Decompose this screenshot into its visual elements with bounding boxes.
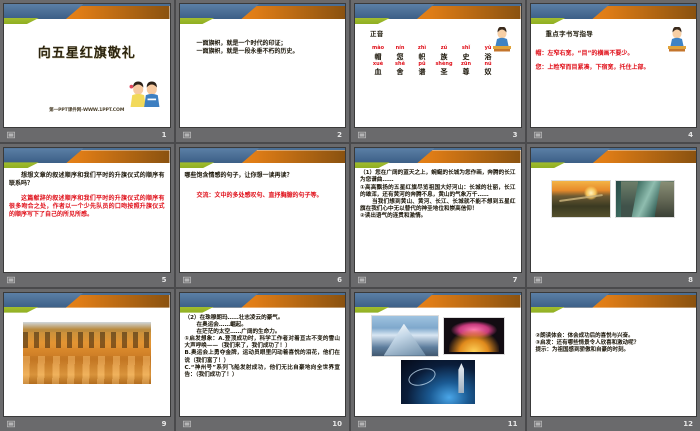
- banner-green-band: [355, 307, 390, 313]
- hanzi-text: 尊: [456, 68, 476, 76]
- slide-cell-12[interactable]: ②朗读体会：体会成功后的喜悦与兴奋。 ③启发：还有哪些情景令人欣喜和激动呢？ 提…: [527, 289, 700, 431]
- slide-thumbnail-icon: [358, 276, 366, 284]
- slide-number: 12: [683, 420, 693, 428]
- body-line: ③启发：还有哪些情景令人欣喜和激动呢？: [536, 340, 692, 347]
- slide-number: 4: [688, 131, 693, 139]
- body-line: （2）在珠穆朗玛……壮志凌云的豪气。: [185, 315, 341, 322]
- guide-item: 您：上睑窄而目紧凑，下宿宽，托住上部。: [536, 64, 692, 72]
- slide-thumbnail-icon: [534, 276, 542, 284]
- banner-green-band: [180, 162, 215, 168]
- hanzi-text: 血: [368, 68, 388, 76]
- slide-footer: 1: [3, 128, 171, 142]
- slide-banner: [531, 148, 697, 169]
- hanzi-cell: 浴: [478, 53, 498, 61]
- yellow-river-waterfall-photo: [23, 322, 151, 384]
- pinyin-text: shě: [390, 62, 410, 68]
- olympic-fireworks-photo: [443, 317, 505, 355]
- slide-body: （2）在珠穆朗玛……壮志凌云的豪气。 在奥运会……崛起。 在茫茫的太空……广阔的…: [180, 314, 346, 416]
- pinyin-text: zhì: [412, 46, 432, 52]
- slide-3[interactable]: 正音 mào nín zhì zú shǐ yù: [354, 3, 522, 128]
- slide-number: 10: [332, 420, 342, 428]
- slide-body: 重点字书写指导 帽：左窄右宽，“目”的横画不要少。 您：上睑窄而目紧凑，下宿宽，…: [531, 25, 697, 127]
- slide-number: 9: [162, 420, 167, 428]
- slide-body: 向五星红旗敬礼 第一PPT课件网-WWW.1PPT.COM: [4, 25, 170, 127]
- slide-thumbnail-icon: [183, 276, 191, 284]
- slide-body: 正音 mào nín zhì zú shǐ yù: [355, 25, 521, 127]
- hanzi-cell: 谱: [412, 68, 432, 76]
- slide-footer: 11: [354, 417, 522, 431]
- hanzi-cell: 族: [434, 53, 454, 61]
- slide-banner: [180, 293, 346, 314]
- slide-body: （1）您在广阔的蓝天之上，蜿蜒的长城为您作画，奔腾的长江为您谱曲…… ①高高飘扬…: [355, 169, 521, 271]
- body-line: C.“神州号”系列飞船发射成功，他们无比自豪地向全世界宣告：（我们成功了！）: [185, 365, 341, 379]
- pinyin-text: zú: [434, 46, 454, 52]
- hanzi-text: 帽: [368, 53, 388, 61]
- pinyin-text: mào: [368, 46, 388, 52]
- pinyin-row: xuè shě pǔ shèng zūn nú: [368, 62, 516, 68]
- slide-8[interactable]: [530, 147, 698, 272]
- slide-cell-11[interactable]: 11: [351, 289, 525, 431]
- slide-cell-5[interactable]: 想想文章的叙述顺序和我们平时的升旗仪式的顺序有联系吗？ 这篇献辞的叙述顺序和我们…: [0, 144, 174, 286]
- question-text: 哪些饱含情感的句子，让你想一读再读？: [185, 172, 341, 180]
- pinyin-cell: mào: [368, 46, 388, 52]
- pinyin-cell: pǔ: [412, 62, 432, 68]
- slide-footer: 5: [3, 273, 171, 287]
- slide-number: 8: [688, 276, 693, 284]
- answer-text: 交流：文中的多处感叹句、直抒胸臆的句子等。: [185, 192, 341, 200]
- pinyin-cell: zūn: [456, 62, 476, 68]
- slide-banner: [355, 4, 521, 25]
- deck-title: 向五星红旗敬礼: [9, 42, 165, 61]
- banner-green-band: [180, 307, 215, 313]
- slide-4[interactable]: 重点字书写指导 帽：左窄右宽，“目”的横画不要少。 您：上睑窄而目紧凑，下宿宽，…: [530, 3, 698, 128]
- slide-thumbnail-icon: [7, 420, 15, 428]
- slide-banner: [531, 293, 697, 314]
- slide-cell-8[interactable]: 8: [527, 144, 700, 286]
- slide-number: 1: [162, 131, 167, 139]
- slide-thumbnail-icon: [183, 420, 191, 428]
- slide-2[interactable]: 一面旗帜，就是一个时代的印证； 一面旗帜，就是一段永垂不朽的历史。: [179, 3, 347, 128]
- two-kids-clipart-icon: [128, 81, 162, 111]
- slide-cell-3[interactable]: 正音 mào nín zhì zú shǐ yù: [351, 0, 525, 142]
- body-line: 提示：为祖国感到骄傲和自豪的时刻。: [536, 347, 692, 354]
- slide-number: 3: [513, 131, 518, 139]
- slide-thumbnail-icon: [7, 131, 15, 139]
- slide-footer: 12: [530, 417, 698, 431]
- body-line: ②朗读体会：体会成功后的喜悦与兴奋。: [536, 333, 692, 340]
- slide-body: 想想文章的叙述顺序和我们平时的升旗仪式的顺序有联系吗？ 这篇献辞的叙述顺序和我们…: [4, 169, 170, 271]
- slide-number: 7: [513, 276, 518, 284]
- slide-body: 一面旗帜，就是一个时代的印证； 一面旗帜，就是一段永垂不朽的历史。: [180, 25, 346, 127]
- pinyin-cell: shě: [390, 62, 410, 68]
- slide-footer: 6: [179, 273, 347, 287]
- yangtze-gorge-photo: [615, 180, 675, 218]
- hanzi-row: 血 舍 谱 圣 尊 奴: [368, 68, 516, 76]
- slide-thumbnail-icon: [534, 420, 542, 428]
- slide-number: 2: [337, 131, 342, 139]
- slide-7[interactable]: （1）您在广阔的蓝天之上，蜿蜒的长城为您作画，奔腾的长江为您谱曲…… ①高高飘扬…: [354, 147, 522, 272]
- slide-thumbnail-icon: [534, 131, 542, 139]
- slide-footer: 7: [354, 273, 522, 287]
- hanzi-cell: 帜: [412, 53, 432, 61]
- body-line: ①高高飘扬的五星红旗尽览祖国大好河山：长城的壮丽，长江的雄浑，还有黄河的奔腾不息…: [360, 185, 516, 199]
- question-text: 想想文章的叙述顺序和我们平时的升旗仪式的顺序有联系吗？: [9, 172, 165, 188]
- slide-footer: 2: [179, 128, 347, 142]
- banner-green-band: [531, 307, 566, 313]
- body-line: 一面旗帜，就是一段永垂不朽的历史。: [185, 48, 341, 56]
- body-line: 一面旗帜，就是一个时代的印证；: [185, 40, 341, 48]
- slide-5[interactable]: 想想文章的叙述顺序和我们平时的升旗仪式的顺序有联系吗？ 这篇献辞的叙述顺序和我们…: [3, 147, 171, 272]
- student-reading-clipart-icon: [664, 27, 690, 53]
- pinyin-text: shèng: [434, 62, 454, 68]
- slide-banner: [4, 4, 170, 25]
- hanzi-text: 帜: [412, 53, 432, 61]
- slide-thumbnail-icon: [358, 131, 366, 139]
- hanzi-text: 谱: [412, 68, 432, 76]
- hanzi-cell: 圣: [434, 68, 454, 76]
- slide-thumbnail-icon: [183, 131, 191, 139]
- slide-thumbnail-grid: 向五星红旗敬礼 第一PPT课件网-WWW.1PPT.COM 1: [0, 0, 700, 431]
- photo-row: [536, 180, 692, 218]
- banner-green-band: [4, 162, 39, 168]
- slide-banner: [355, 148, 521, 169]
- hanzi-cell: 血: [368, 68, 388, 76]
- slide-banner: [180, 148, 346, 169]
- slide-number: 5: [162, 276, 167, 284]
- slide-thumbnail-icon: [7, 276, 15, 284]
- slide-body: [4, 314, 170, 416]
- pinyin-cell: zú: [434, 46, 454, 52]
- answer-text: 这篇献辞的叙述顺序和我们平时的升旗仪式的顺序有很多吻合之处，作者以一个少先队员的…: [9, 195, 165, 219]
- slide-1[interactable]: 向五星红旗敬礼 第一PPT课件网-WWW.1PPT.COM: [3, 3, 171, 128]
- body-line: ①启发想象：A.登顶成功时，科学工作者对着亘古不变的雪山大声呼唤——（我们来了，…: [185, 336, 341, 350]
- slide-number: 6: [337, 276, 342, 284]
- slide-9[interactable]: [3, 292, 171, 417]
- hanzi-cell: 您: [390, 53, 410, 61]
- hanzi-text: 圣: [434, 68, 454, 76]
- body-line: （1）您在广阔的蓝天之上，蜿蜒的长城为您作画，奔腾的长江为您谱曲……: [360, 170, 516, 184]
- slide-body: [355, 314, 521, 416]
- hanzi-cell: 舍: [390, 68, 410, 76]
- pinyin-cell: shǐ: [456, 46, 476, 52]
- pinyin-text: shǐ: [456, 46, 476, 52]
- hanzi-text: 奴: [478, 68, 498, 76]
- pinyin-cell: xuè: [368, 62, 388, 68]
- slide-banner: [180, 4, 346, 25]
- body-line: B.奥运会上勇夺金牌，运动员眼里闪动着喜悦的泪花，他们在说（我们富了！）: [185, 350, 341, 364]
- slide-cell-6[interactable]: 哪些饱含情感的句子，让你想一读再读？ 交流：文中的多处感叹句、直抒胸臆的句子等。…: [176, 144, 350, 286]
- slide-footer: 8: [530, 273, 698, 287]
- slide-thumbnail-icon: [358, 420, 366, 428]
- slide-cell-4[interactable]: 重点字书写指导 帽：左窄右宽，“目”的横画不要少。 您：上睑窄而目紧凑，下宿宽，…: [527, 0, 700, 142]
- slide-body: 哪些饱含情感的句子，让你想一读再读？ 交流：文中的多处感叹句、直抒胸臆的句子等。: [180, 169, 346, 271]
- pinyin-text: pǔ: [412, 62, 432, 68]
- slide-body: [531, 169, 697, 271]
- slide-footer: 10: [179, 417, 347, 431]
- slide-12[interactable]: ②朗读体会：体会成功后的喜悦与兴奋。 ③启发：还有哪些情景令人欣喜和激动呢？ 提…: [530, 292, 698, 417]
- pinyin-cell: nín: [390, 46, 410, 52]
- slide-banner: [4, 293, 170, 314]
- body-line: ②读出语气的连贯和激情。: [360, 213, 516, 220]
- slide-banner: [4, 148, 170, 169]
- slide-11[interactable]: [354, 292, 522, 417]
- slide-10[interactable]: （2）在珠穆朗玛……壮志凌云的豪气。 在奥运会……崛起。 在茫茫的太空……广阔的…: [179, 292, 347, 417]
- slide-number: 11: [508, 420, 518, 428]
- pinyin-cell: shèng: [434, 62, 454, 68]
- great-wall-sunset-photo: [551, 180, 611, 218]
- pinyin-cell: zhì: [412, 46, 432, 52]
- pinyin-text: nú: [478, 62, 498, 68]
- slide-cell-7[interactable]: （1）您在广阔的蓝天之上，蜿蜒的长城为您作画，奔腾的长江为您谱曲…… ①高高飘扬…: [351, 144, 525, 286]
- body-line: 当我们想到黄山、黄河、长江、长城就不能不想到五星红旗在我们心中无以替代的神圣地位…: [360, 199, 516, 213]
- banner-green-band: [531, 18, 566, 24]
- slide-cell-9[interactable]: 9: [0, 289, 174, 431]
- mount-everest-photo: [371, 315, 439, 357]
- slide-banner: [531, 4, 697, 25]
- pinyin-text: zūn: [456, 62, 476, 68]
- spacecraft-earth-photo: [401, 360, 475, 404]
- body-line: 在奥运会……崛起。: [185, 322, 341, 329]
- pinyin-cell: nú: [478, 62, 498, 68]
- banner-green-band: [355, 162, 390, 168]
- banner-green-band: [355, 18, 390, 24]
- hanzi-row: 帽 您 帜 族 史 浴: [368, 53, 516, 61]
- hanzi-text: 史: [456, 53, 476, 61]
- slide-cell-2[interactable]: 一面旗帜，就是一个时代的印证； 一面旗帜，就是一段永垂不朽的历史。 2: [176, 0, 350, 142]
- slide-cell-10[interactable]: （2）在珠穆朗玛……壮志凌云的豪气。 在奥运会……崛起。 在茫茫的太空……广阔的…: [176, 289, 350, 431]
- banner-green-band: [4, 18, 39, 24]
- pinyin-text: nín: [390, 46, 410, 52]
- hanzi-text: 您: [390, 53, 410, 61]
- banner-green-band: [4, 307, 39, 313]
- slide-6[interactable]: 哪些饱含情感的句子，让你想一读再读？ 交流：文中的多处感叹句、直抒胸臆的句子等。: [179, 147, 347, 272]
- slide-footer: 3: [354, 128, 522, 142]
- hanzi-cell: 尊: [456, 68, 476, 76]
- hanzi-text: 浴: [478, 53, 498, 61]
- photo-row: [357, 315, 519, 357]
- slide-cell-1[interactable]: 向五星红旗敬礼 第一PPT课件网-WWW.1PPT.COM 1: [0, 0, 174, 142]
- slide-footer: 4: [530, 128, 698, 142]
- hanzi-text: 舍: [390, 68, 410, 76]
- hanzi-cell: 史: [456, 53, 476, 61]
- hanzi-cell: 奴: [478, 68, 498, 76]
- banner-green-band: [531, 162, 566, 168]
- hanzi-text: 族: [434, 53, 454, 61]
- student-reading-clipart-icon: [489, 27, 515, 53]
- slide-banner: [355, 293, 521, 314]
- pinyin-text: xuè: [368, 62, 388, 68]
- slide-footer: 9: [3, 417, 171, 431]
- slide-body: ②朗读体会：体会成功后的喜悦与兴奋。 ③启发：还有哪些情景令人欣喜和激动呢？ 提…: [531, 314, 697, 416]
- banner-green-band: [180, 18, 215, 24]
- hanzi-cell: 帽: [368, 53, 388, 61]
